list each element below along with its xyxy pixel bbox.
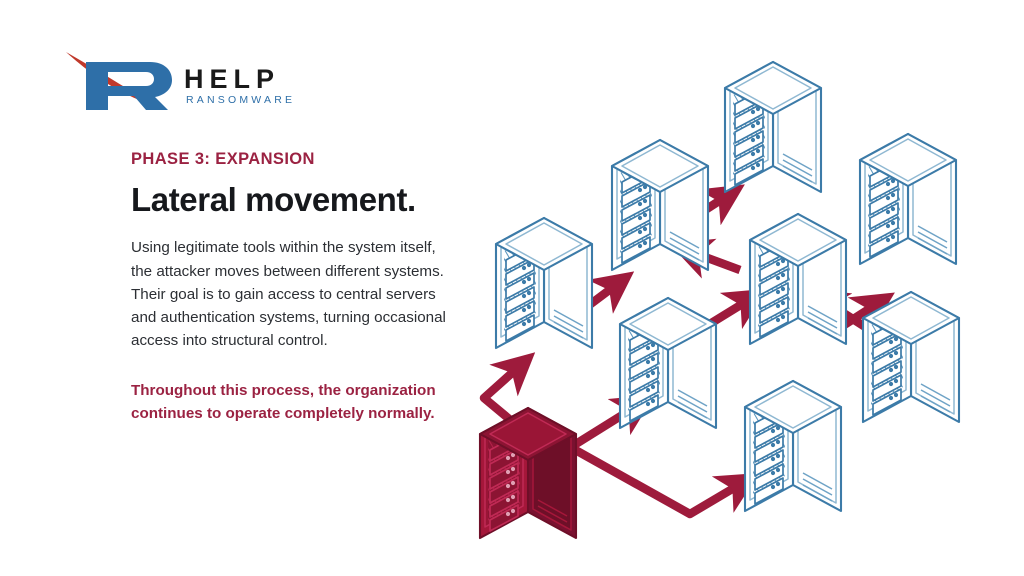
- server-rack-middle-lower: [620, 298, 716, 428]
- text-column: PHASE 3: EXPANSION Lateral movement. Usi…: [131, 150, 471, 425]
- server-rack-left: [496, 218, 592, 348]
- logo-wordmark-ransomware: RANSOMWARE: [186, 94, 295, 106]
- helpransomware-logo: HELP RANSOMWARE: [64, 44, 304, 110]
- server-rack-top-right: [860, 134, 956, 264]
- arrow-attacker-to-bottom-rack: [570, 447, 744, 514]
- server-rack-center: [750, 214, 846, 344]
- diagram-artwork: [452, 0, 1024, 576]
- logo-artwork: HELP RANSOMWARE: [64, 44, 304, 110]
- server-rack-top: [725, 62, 821, 192]
- server-rack-right: [863, 292, 959, 422]
- server-rack-bottom: [745, 381, 841, 511]
- page-title: Lateral movement.: [131, 182, 471, 218]
- logo-wordmark-help: HELP: [184, 64, 280, 94]
- phase-eyebrow: PHASE 3: EXPANSION: [131, 150, 471, 168]
- closing-emphasis-paragraph: Throughout this process, the organizatio…: [131, 379, 441, 426]
- lateral-movement-network-diagram: [452, 0, 1024, 576]
- body-paragraph: Using legitimate tools within the system…: [131, 236, 461, 352]
- logo-r-mark: [86, 62, 172, 110]
- server-rack-upper-middle: [612, 140, 708, 270]
- slide-canvas: HELP RANSOMWARE PHASE 3: EXPANSION Later…: [0, 0, 1024, 576]
- server-rack-compromised: [480, 408, 576, 538]
